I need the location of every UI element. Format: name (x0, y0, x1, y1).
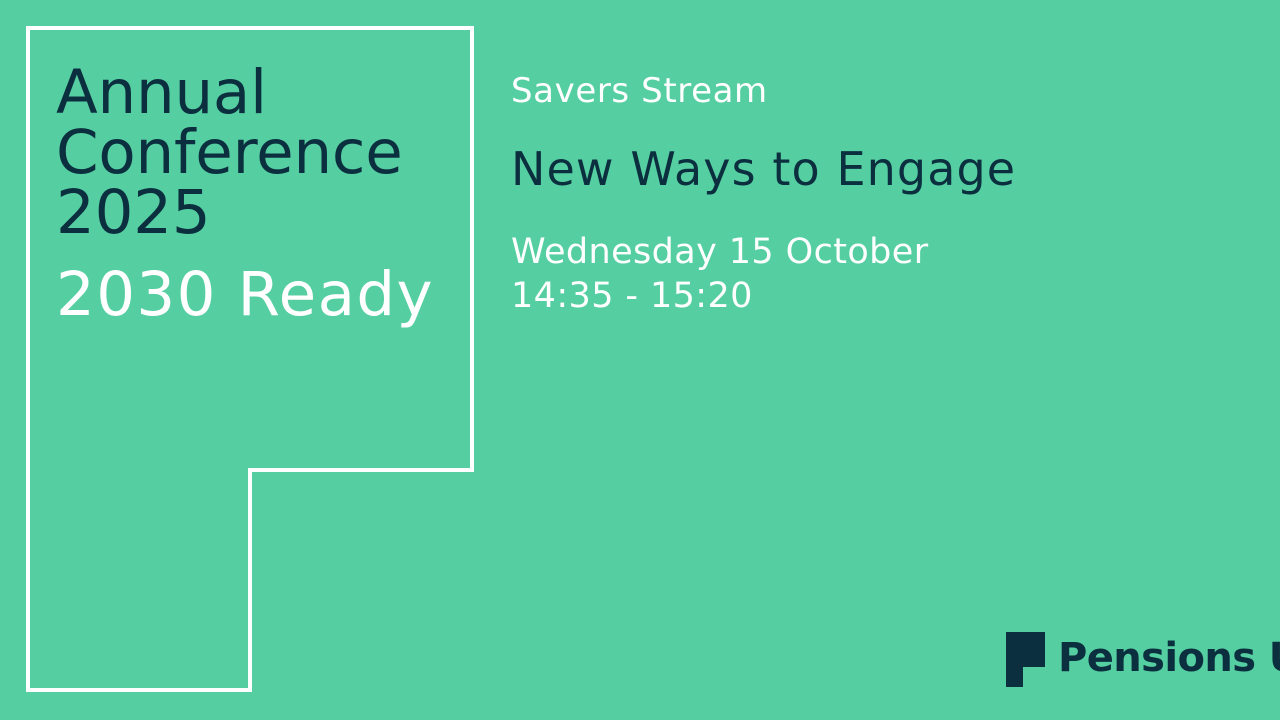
pensions-uk-logo: Pensions UK (1006, 632, 1280, 687)
conference-brand-block: Annual Conference 2025 2030 Ready (56, 63, 466, 326)
p-mark-path (1006, 632, 1045, 687)
pensions-uk-p-mark-icon (1006, 632, 1045, 687)
session-schedule: Wednesday 15 October 14:35 - 15:20 (511, 196, 1211, 318)
conference-title: Annual Conference 2025 (56, 63, 466, 243)
conference-session-slide: Annual Conference 2025 2030 Ready Savers… (0, 0, 1280, 720)
session-stream-label: Savers Stream (511, 70, 1211, 112)
session-date: Wednesday 15 October (511, 230, 1211, 274)
pensions-uk-wordmark: Pensions UK (1045, 638, 1280, 681)
conference-strapline: 2030 Ready (56, 243, 466, 326)
session-time: 14:35 - 15:20 (511, 274, 1211, 318)
session-title: New Ways to Engage (511, 112, 1211, 196)
session-details-block: Savers Stream New Ways to Engage Wednesd… (511, 70, 1211, 318)
